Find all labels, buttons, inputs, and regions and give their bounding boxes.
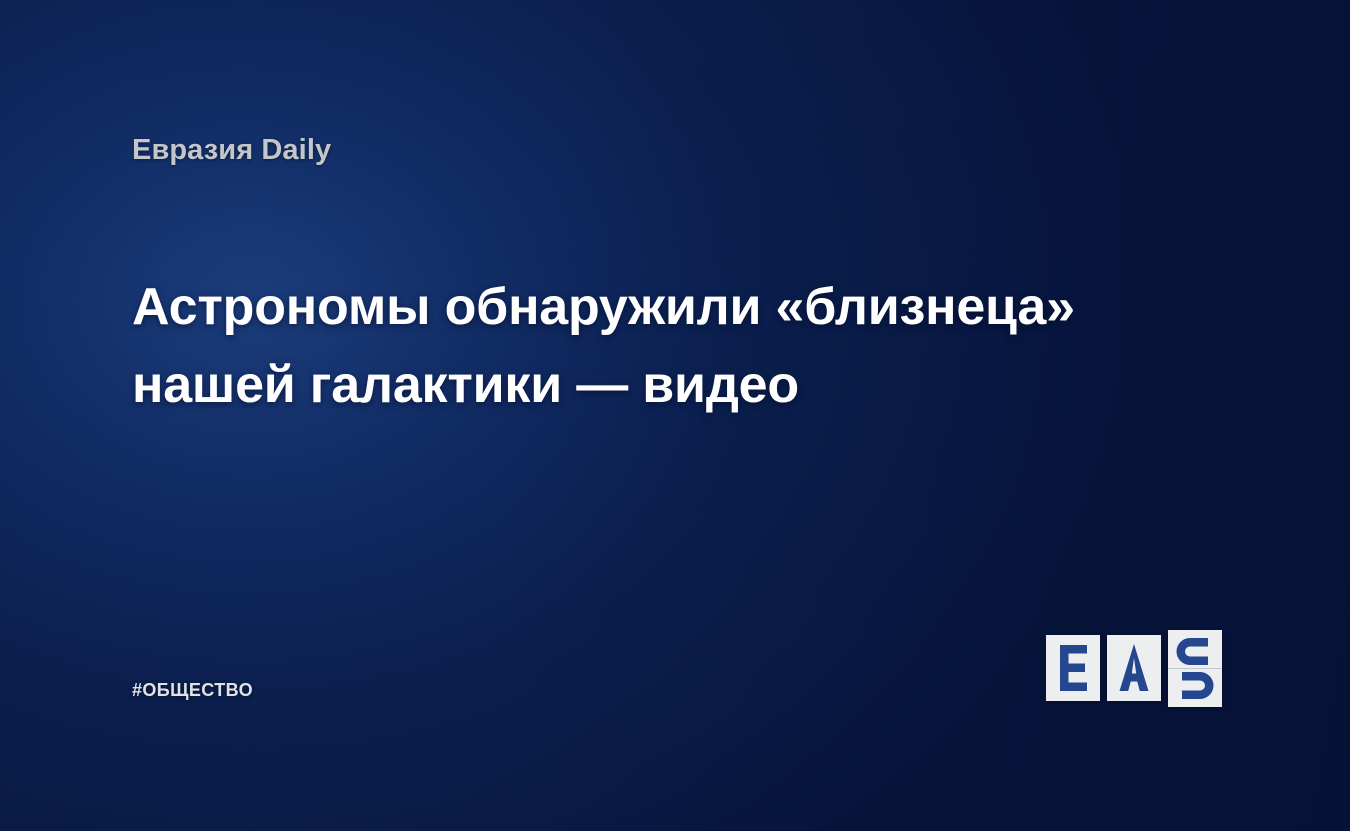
share-card: Евразия Daily Астрономы обнаружили «близ… bbox=[0, 0, 1350, 831]
headline-line-1: Астрономы обнаружили «близнеца» bbox=[132, 268, 1162, 346]
letter-a-glyph bbox=[1107, 635, 1161, 701]
logo-tile-e bbox=[1046, 635, 1100, 701]
card-content: Евразия Daily Астрономы обнаружили «близ… bbox=[0, 0, 1350, 831]
letter-e-glyph bbox=[1046, 635, 1100, 701]
headline-line-2: нашей галактики — видео bbox=[132, 346, 1162, 424]
logo-tile-seam bbox=[1168, 668, 1222, 669]
logo-tile-a bbox=[1107, 635, 1161, 701]
category-tag: #ОБЩЕСТВО bbox=[132, 680, 253, 701]
headline: Астрономы обнаружили «близнеца» нашей га… bbox=[132, 268, 1162, 424]
eadaily-logo bbox=[1046, 628, 1224, 708]
brand-logotype: Евразия Daily bbox=[132, 134, 331, 167]
